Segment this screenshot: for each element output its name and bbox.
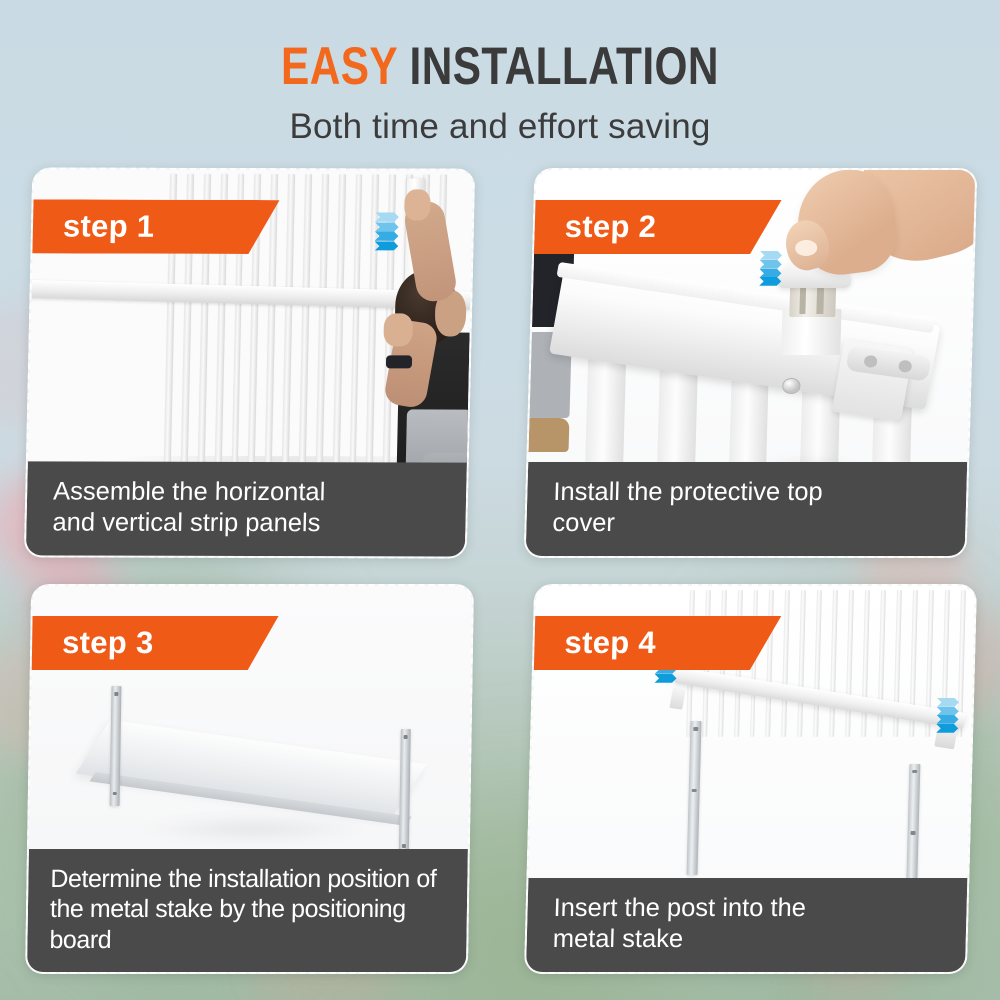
down-arrow-stack-right	[936, 698, 959, 733]
step-caption-2: Install the protective top cover	[526, 462, 968, 556]
step-badge-4: step 4	[528, 616, 781, 670]
wristwatch	[385, 356, 412, 369]
step-caption-text: Determine the installation position of t…	[49, 864, 467, 956]
page-title: EASY INSTALLATION	[100, 0, 900, 94]
screw	[783, 378, 801, 393]
down-arrow-stack	[759, 251, 782, 286]
step-badge-label: step 3	[62, 625, 154, 661]
person-hand-lower	[384, 313, 413, 346]
down-arrow-stack	[375, 213, 400, 251]
step-badge-2: step 2	[528, 200, 782, 254]
step-badge-1: step 1	[26, 199, 279, 254]
metal-stake-right	[398, 729, 411, 860]
thumb-nail	[795, 240, 817, 255]
step-card-1[interactable]: step 1 Assemble the horizontal and verti…	[24, 167, 475, 558]
step-card-3[interactable]: step 3 Determine the installation positi…	[25, 584, 474, 974]
step-caption-1: Assemble the horizontal and vertical str…	[26, 461, 467, 556]
steps-grid: step 1 Assemble the horizontal and verti…	[28, 168, 972, 974]
step-caption-text: Insert the post into the metal stake	[552, 893, 806, 955]
step-badge-label: step 4	[564, 625, 656, 661]
step-caption-text: Install the protective top cover	[552, 477, 823, 539]
step-caption-text: Assemble the horizontal and vertical str…	[52, 476, 325, 539]
step-card-4[interactable]: step 4 Insert the post into the metal st…	[524, 584, 977, 974]
header: EASY INSTALLATION Both time and effort s…	[0, 0, 1000, 147]
step-caption-4: Insert the post into the metal stake	[526, 878, 967, 972]
person-hand-upper	[404, 190, 431, 221]
step-caption-3: Determine the installation position of t…	[27, 849, 468, 973]
step-badge-label: step 1	[63, 209, 155, 245]
step-card-2[interactable]: step 2 Install the protective top cover	[524, 168, 978, 558]
title-accent-word: EASY	[281, 37, 397, 96]
step-badge-label: step 2	[564, 209, 656, 245]
title-rest: INSTALLATION	[397, 37, 719, 96]
step-badge-3: step 3	[26, 616, 279, 670]
page-subtitle: Both time and effort saving	[0, 94, 1000, 147]
